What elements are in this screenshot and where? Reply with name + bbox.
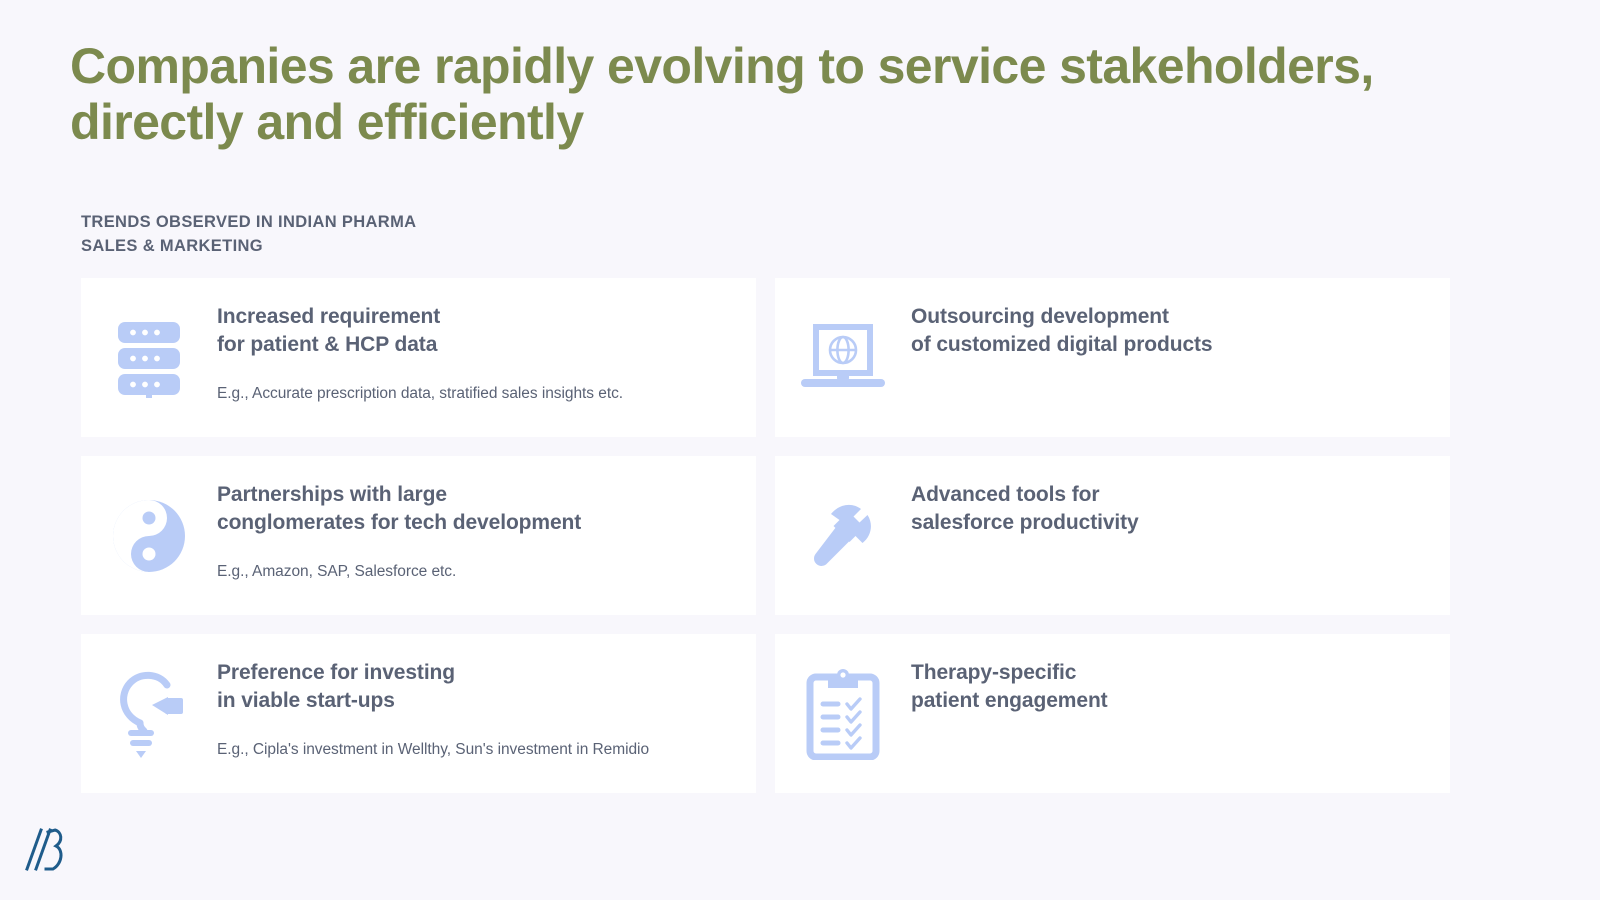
card-heading-line-1: Preference for investing <box>217 659 649 687</box>
card-example-note: E.g., Amazon, SAP, Salesforce etc. <box>217 562 581 582</box>
card-heading: Partnerships with large conglomerates fo… <box>217 481 581 536</box>
card-icon-slot <box>775 456 911 615</box>
trend-card[interactable]: Advanced tools for salesforce productivi… <box>775 456 1450 615</box>
brand-logo <box>24 824 66 872</box>
card-body: Advanced tools for salesforce productivi… <box>911 456 1155 536</box>
card-heading: Outsourcing development of customized di… <box>911 303 1213 358</box>
eyebrow-line-1: TRENDS OBSERVED IN INDIAN PHARMA <box>81 211 416 235</box>
card-icon-slot <box>775 634 911 793</box>
yin-yang-icon <box>111 498 187 574</box>
brand-logo-icon <box>24 824 66 872</box>
hammer-icon <box>803 496 883 576</box>
card-heading-line-2: of customized digital products <box>911 331 1213 359</box>
card-heading-line-1: Partnerships with large <box>217 481 581 509</box>
card-body: Outsourcing development of customized di… <box>911 278 1229 358</box>
card-heading-line-2: in viable start-ups <box>217 687 649 715</box>
card-heading: Advanced tools for salesforce productivi… <box>911 481 1139 536</box>
laptop-globe-icon <box>797 323 889 393</box>
card-heading: Preference for investing in viable start… <box>217 659 649 714</box>
eyebrow-line-2: SALES & MARKETING <box>81 235 416 259</box>
card-example-note: E.g., Accurate prescription data, strati… <box>217 384 623 404</box>
trend-card[interactable]: Partnerships with large conglomerates fo… <box>81 456 756 615</box>
card-icon-slot <box>81 278 217 437</box>
lightbulb-idea-icon <box>107 669 191 759</box>
card-body: Therapy-specific patient engagement <box>911 634 1124 714</box>
clipboard-checklist-icon <box>806 668 880 760</box>
page-title: Companies are rapidly evolving to servic… <box>70 38 1490 150</box>
card-body: Preference for investing in viable start… <box>217 634 665 761</box>
card-body: Partnerships with large conglomerates fo… <box>217 456 597 583</box>
card-heading: Increased requirement for patient & HCP … <box>217 303 623 358</box>
card-heading-line-2: conglomerates for tech development <box>217 509 581 537</box>
card-body: Increased requirement for patient & HCP … <box>217 278 639 405</box>
card-heading-line-2: for patient & HCP data <box>217 331 623 359</box>
card-icon-slot <box>81 456 217 615</box>
card-heading-line-1: Increased requirement <box>217 303 623 331</box>
card-icon-slot <box>775 278 911 437</box>
trend-card-grid: Increased requirement for patient & HCP … <box>81 278 1450 793</box>
section-eyebrow-label: TRENDS OBSERVED IN INDIAN PHARMA SALES &… <box>81 211 416 259</box>
trend-card[interactable]: Increased requirement for patient & HCP … <box>81 278 756 437</box>
card-heading-line-2: patient engagement <box>911 687 1108 715</box>
card-icon-slot <box>81 634 217 793</box>
card-heading: Therapy-specific patient engagement <box>911 659 1108 714</box>
card-heading-line-2: salesforce productivity <box>911 509 1139 537</box>
trend-card[interactable]: Preference for investing in viable start… <box>81 634 756 793</box>
server-stack-icon <box>112 318 186 398</box>
trend-card[interactable]: Therapy-specific patient engagement <box>775 634 1450 793</box>
card-heading-line-1: Outsourcing development <box>911 303 1213 331</box>
card-example-note: E.g., Cipla's investment in Wellthy, Sun… <box>217 740 649 760</box>
trend-card[interactable]: Outsourcing development of customized di… <box>775 278 1450 437</box>
card-heading-line-1: Therapy-specific <box>911 659 1108 687</box>
card-heading-line-1: Advanced tools for <box>911 481 1139 509</box>
